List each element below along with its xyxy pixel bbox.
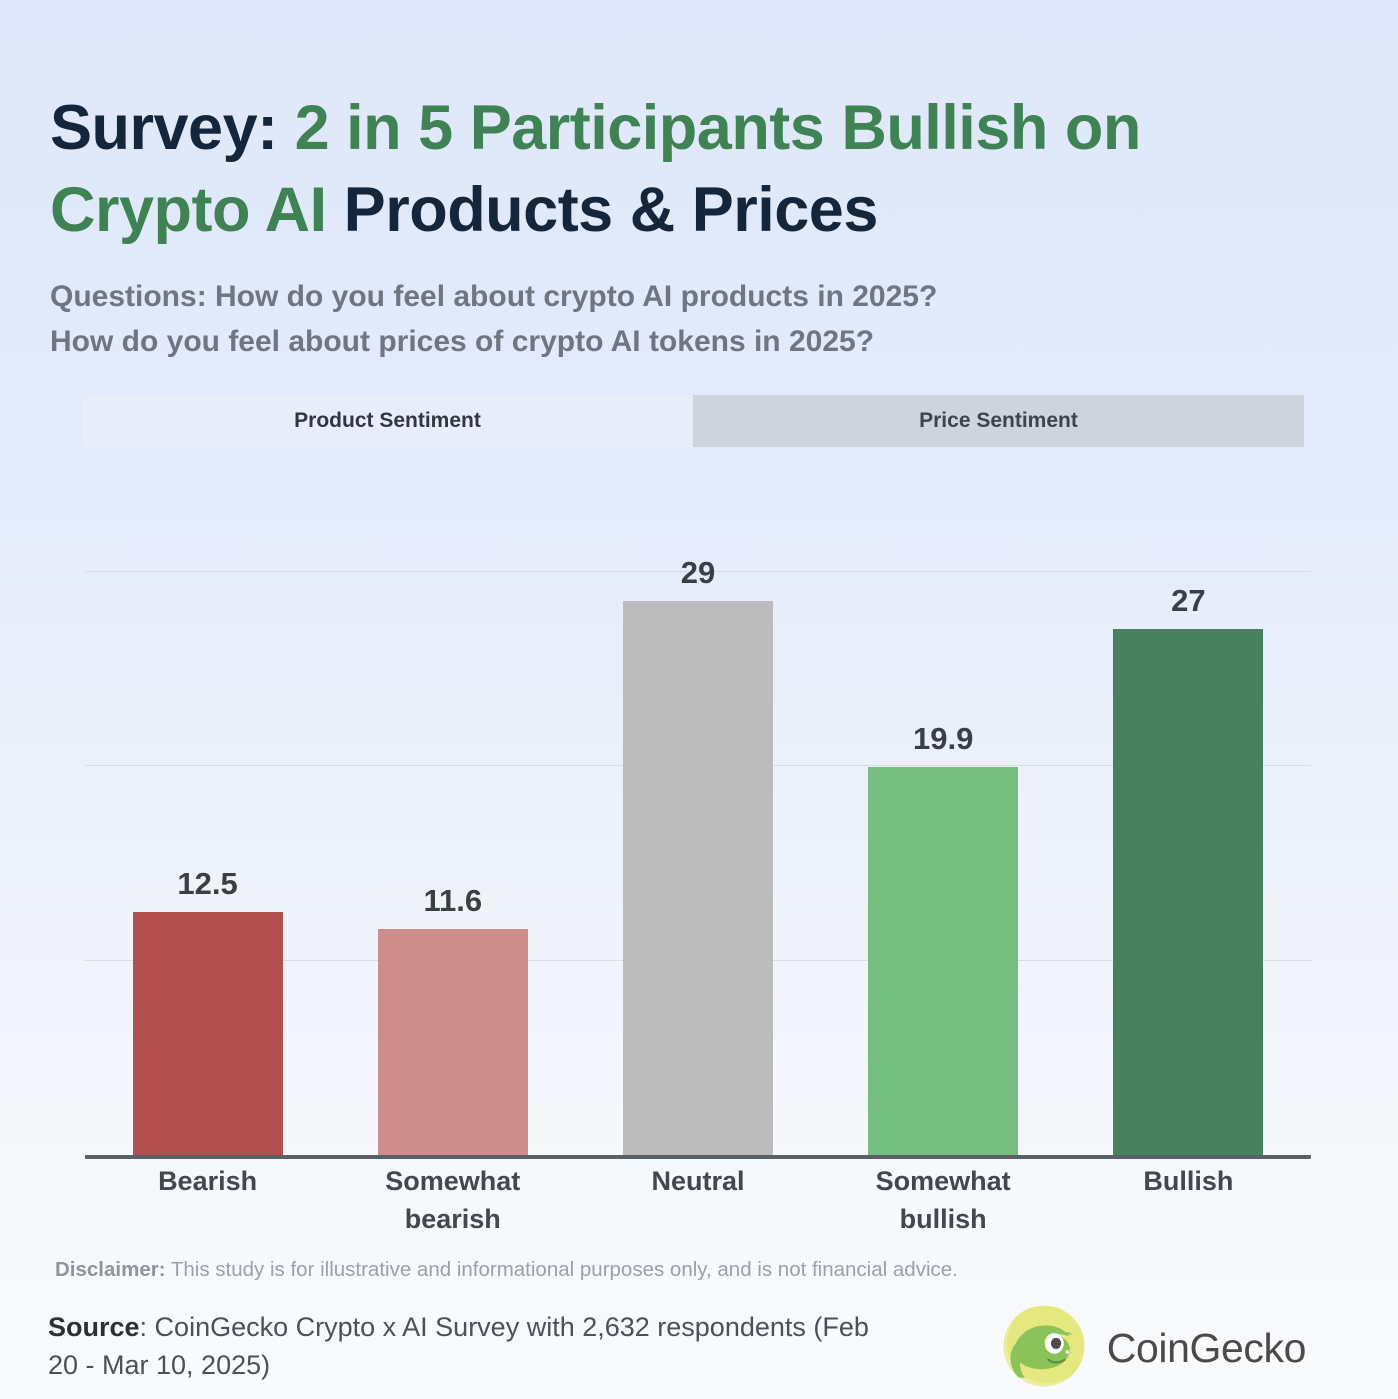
bar[interactable] (1113, 629, 1263, 1155)
title-segment-tail: Products & Prices (344, 175, 878, 245)
x-axis-tick-label: Neutral (575, 1162, 820, 1239)
bar-group: 11.6 (330, 555, 575, 1155)
bar-chart-plot: 12.511.62919.927 (85, 555, 1311, 1155)
coingecko-wordmark: CoinGecko (1107, 1325, 1306, 1372)
x-axis-labels: BearishSomewhatbearishNeutralSomewhatbul… (85, 1162, 1311, 1239)
bar-value-label: 29 (681, 555, 715, 591)
bar-value-label: 12.5 (177, 866, 237, 902)
x-axis-tick-label: Somewhatbullish (821, 1162, 1066, 1239)
bar-value-label: 19.9 (913, 721, 973, 757)
sentiment-tab-bar: Product Sentiment Price Sentiment (82, 395, 1304, 447)
tab-product-sentiment[interactable]: Product Sentiment (82, 395, 693, 447)
bar-group: 29 (575, 555, 820, 1155)
gecko-icon (1001, 1303, 1087, 1394)
bar-group: 12.5 (85, 555, 330, 1155)
source-text: : CoinGecko Crypto x AI Survey with 2,63… (48, 1312, 869, 1380)
disclaimer: Disclaimer: This study is for illustrati… (0, 1255, 1398, 1286)
disclaimer-label: Disclaimer: (55, 1258, 166, 1281)
bar-group: 19.9 (821, 555, 1066, 1155)
bar-group: 27 (1066, 555, 1311, 1155)
x-axis-tick-label: Bearish (85, 1162, 330, 1239)
source-label: Source (48, 1312, 140, 1342)
bar[interactable] (378, 929, 528, 1155)
subtitle-line-2: How do you feel about prices of crypto A… (50, 319, 1348, 365)
bar[interactable] (133, 912, 283, 1156)
bar-value-label: 11.6 (423, 883, 482, 919)
page-title: Survey: 2 in 5 Participants Bullish on C… (50, 88, 1348, 252)
disclaimer-text: This study is for illustrative and infor… (166, 1258, 958, 1281)
coingecko-logo: CoinGecko (1001, 1303, 1306, 1394)
subtitle: Questions: How do you feel about crypto … (50, 274, 1348, 365)
x-axis-tick-label: Somewhatbearish (330, 1162, 575, 1239)
x-axis-tick-label: Bullish (1066, 1162, 1311, 1239)
source-note: Source: CoinGecko Crypto x AI Survey wit… (0, 1308, 900, 1385)
tab-price-sentiment[interactable]: Price Sentiment (693, 395, 1304, 447)
title-segment-survey: Survey: (50, 93, 295, 163)
subtitle-line-1: Questions: How do you feel about crypto … (50, 274, 1348, 320)
header: Survey: 2 in 5 Participants Bullish on C… (0, 0, 1398, 365)
bar[interactable] (868, 767, 1018, 1155)
x-axis-line (85, 1155, 1311, 1159)
bar-value-label: 27 (1171, 583, 1205, 619)
bar[interactable] (623, 601, 773, 1155)
